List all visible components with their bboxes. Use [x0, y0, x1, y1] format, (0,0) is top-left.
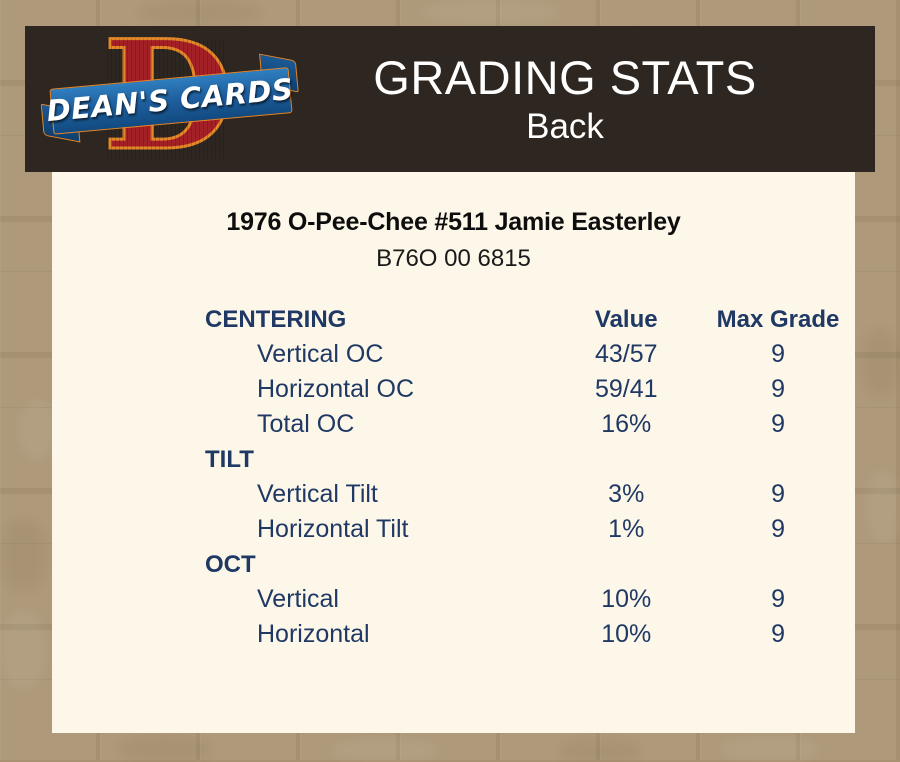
table-row: Horizontal Tilt 1% 9 [52, 512, 855, 547]
card-title: 1976 O-Pee-Chee #511 Jamie Easterley [52, 208, 855, 237]
section-spacer-value [551, 442, 701, 477]
row-label: Horizontal OC [52, 372, 551, 407]
row-label: Total OC [52, 407, 551, 442]
row-value: 43/57 [551, 337, 701, 372]
row-value: 16% [551, 407, 701, 442]
row-max-grade: 9 [701, 617, 855, 652]
row-max-grade: 9 [701, 407, 855, 442]
table-row: Vertical Tilt 3% 9 [52, 477, 855, 512]
row-max-grade: 9 [701, 477, 855, 512]
page-subtitle: Back [295, 105, 835, 149]
row-value: 1% [551, 512, 701, 547]
row-value: 59/41 [551, 372, 701, 407]
section-spacer-grade [701, 547, 855, 582]
logo-ribbon: DEAN'S CARDS [43, 64, 297, 138]
logo-ribbon-text: DEAN'S CARDS [43, 64, 297, 136]
row-label: Vertical Tilt [52, 477, 551, 512]
row-label: Vertical OC [52, 337, 551, 372]
table-row: Horizontal OC 59/41 9 [52, 372, 855, 407]
column-header-value: Value [551, 302, 701, 337]
content-panel: 1976 O-Pee-Chee #511 Jamie Easterley B76… [52, 172, 855, 733]
page-header: D DEAN'S CARDS GRADING STATS Back [25, 26, 875, 172]
section-title: OCT [52, 547, 551, 582]
row-max-grade: 9 [701, 337, 855, 372]
column-header-max-grade: Max Grade [701, 302, 855, 337]
table-header-row: CENTERING Value Max Grade [52, 302, 855, 337]
table-row: Total OC 16% 9 [52, 407, 855, 442]
row-max-grade: 9 [701, 582, 855, 617]
grading-stats-table: CENTERING Value Max Grade Vertical OC 43… [52, 302, 855, 652]
row-value: 3% [551, 477, 701, 512]
header-title-group: GRADING STATS Back [295, 50, 875, 149]
row-max-grade: 9 [701, 512, 855, 547]
table-row: Horizontal 10% 9 [52, 617, 855, 652]
row-max-grade: 9 [701, 372, 855, 407]
section-title: TILT [52, 442, 551, 477]
row-label: Vertical [52, 582, 551, 617]
table-row: Vertical OC 43/57 9 [52, 337, 855, 372]
row-label: Horizontal [52, 617, 551, 652]
section-header-tilt: TILT [52, 442, 855, 477]
column-header-section: CENTERING [52, 302, 551, 337]
row-value: 10% [551, 582, 701, 617]
deans-cards-logo[interactable]: D DEAN'S CARDS [45, 29, 295, 169]
page-title: GRADING STATS [295, 50, 835, 105]
section-header-oct: OCT [52, 547, 855, 582]
row-value: 10% [551, 617, 701, 652]
row-label: Horizontal Tilt [52, 512, 551, 547]
section-spacer-grade [701, 442, 855, 477]
section-spacer-value [551, 547, 701, 582]
table-row: Vertical 10% 9 [52, 582, 855, 617]
card-serial-number: B76O 00 6815 [52, 245, 855, 273]
